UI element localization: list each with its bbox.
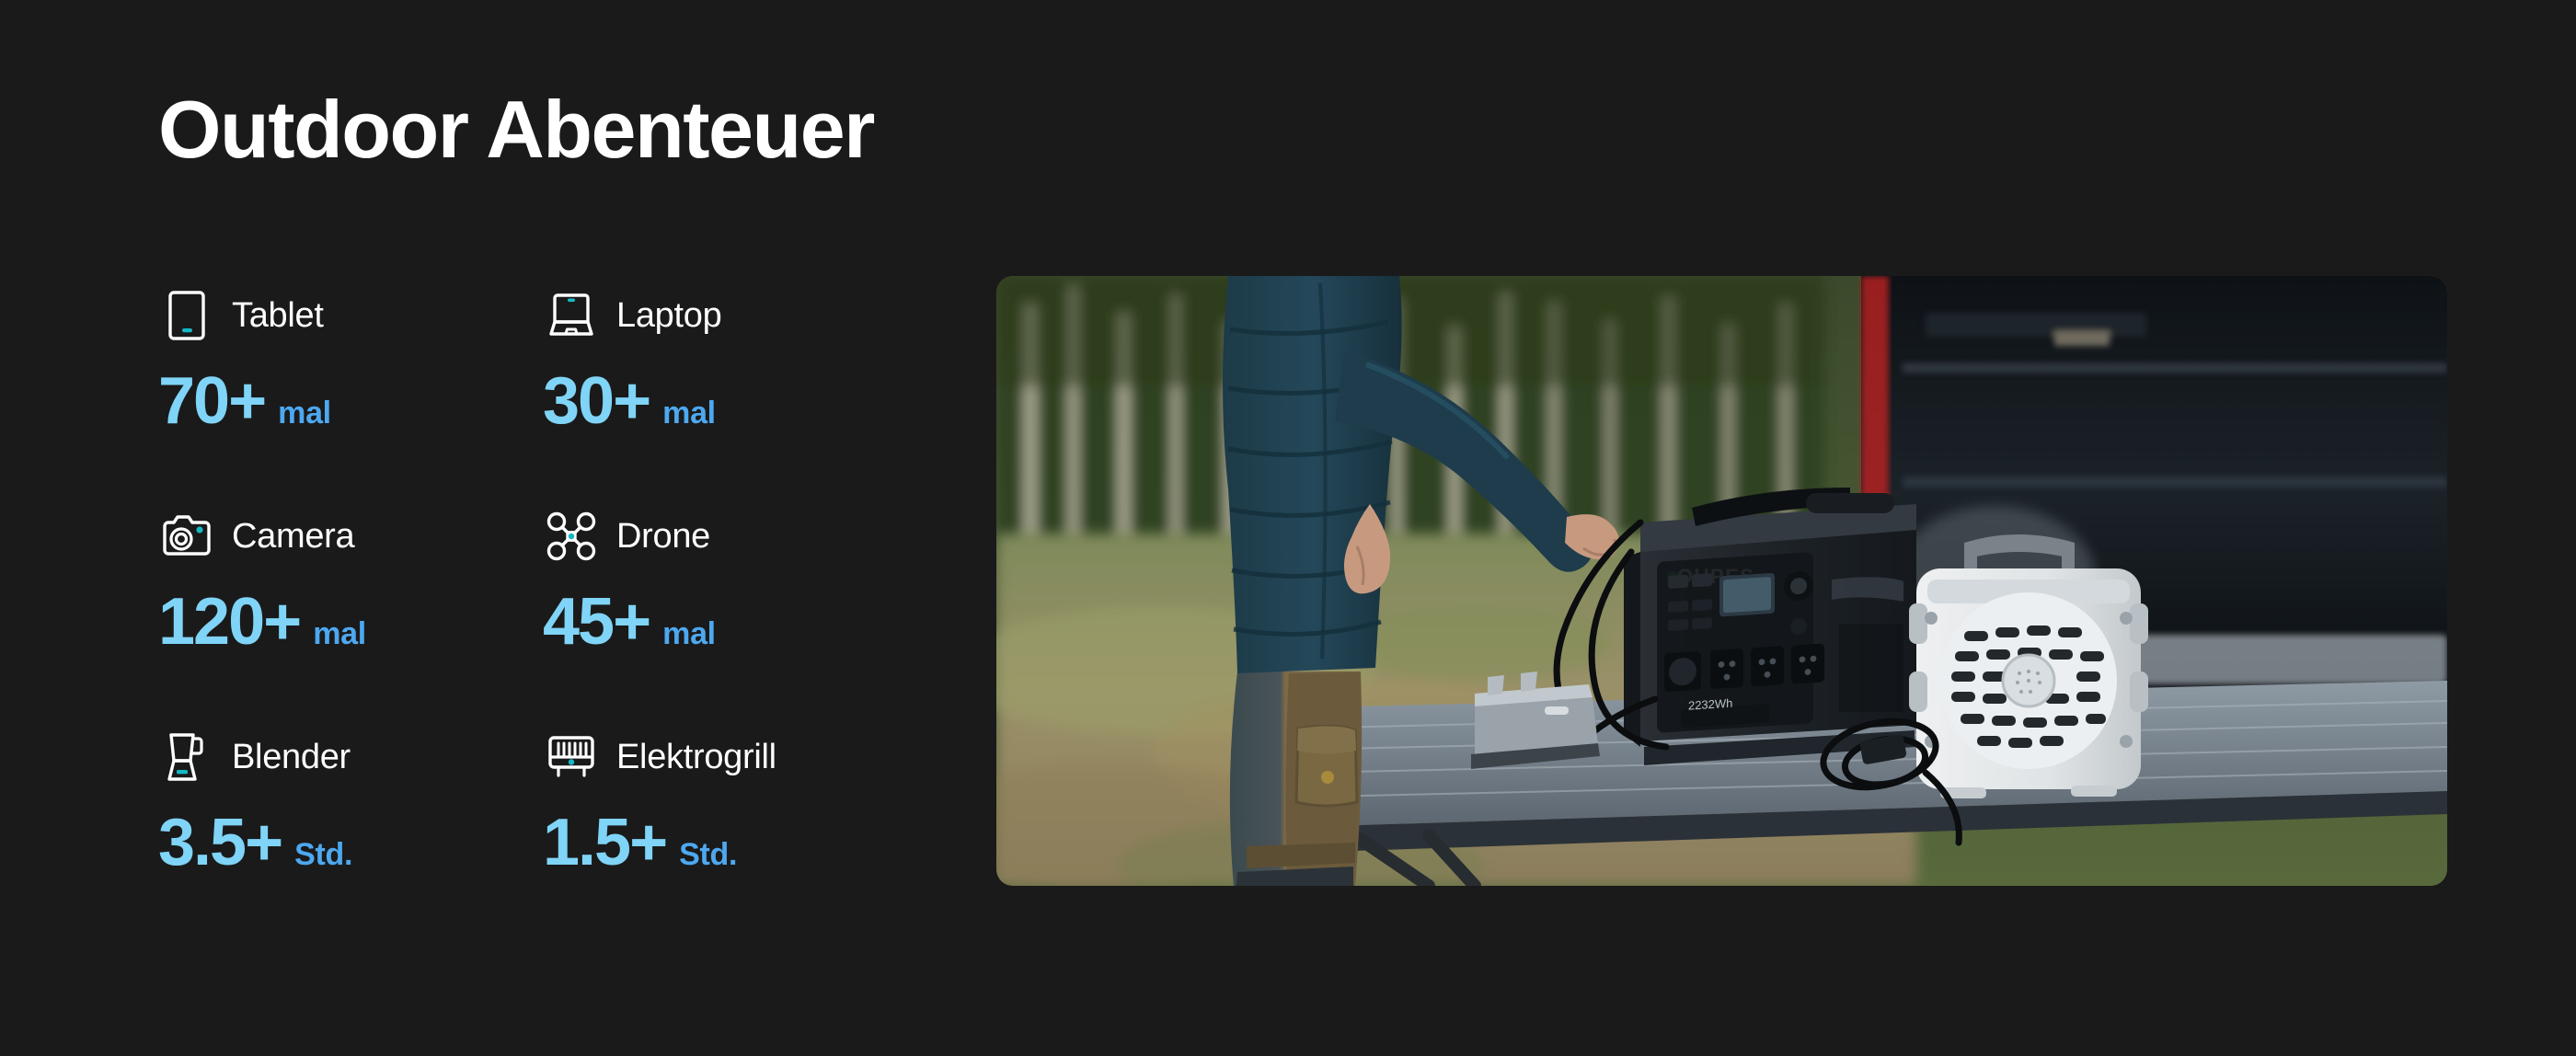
stat-number: 70+: [158, 368, 265, 434]
laptop-icon: [543, 287, 600, 344]
lifestyle-photo: OUPES: [996, 276, 2447, 886]
stat-header: Blender: [158, 717, 543, 797]
stat-number: 3.5+: [158, 809, 282, 876]
tablet-icon: [158, 287, 215, 344]
stat-unit: Std.: [294, 839, 352, 870]
stat-header: Tablet: [158, 276, 543, 355]
stat-value-row: 3.5+ Std.: [158, 809, 543, 876]
electric-grill-icon: [543, 729, 600, 786]
stat-header: Camera: [158, 497, 543, 576]
stat-label: Elektrogrill: [616, 738, 776, 777]
stat-item-camera: Camera 120+ mal: [158, 497, 543, 717]
stat-header: Drone: [543, 497, 922, 576]
stats-grid: Tablet 70+ mal Laptop: [158, 276, 922, 938]
stat-value-row: 120+ mal: [158, 589, 543, 655]
stat-unit: Std.: [679, 839, 737, 870]
stat-unit: mal: [662, 618, 716, 649]
stat-label: Laptop: [616, 296, 721, 336]
stat-unit: mal: [313, 618, 366, 649]
camera-icon: [158, 508, 215, 565]
stat-label: Tablet: [232, 296, 324, 336]
blender-icon: [158, 729, 215, 786]
promo-banner: Outdoor Abenteuer Tablet 70+ mal: [0, 0, 2576, 1056]
drone-icon: [543, 508, 600, 565]
photo-canvas: OUPES: [996, 276, 2447, 886]
stat-item-electric-grill: Elektrogrill 1.5+ Std.: [543, 717, 922, 938]
stat-number: 120+: [158, 589, 300, 655]
stat-item-blender: Blender 3.5+ Std.: [158, 717, 543, 938]
page-title: Outdoor Abenteuer: [158, 87, 874, 172]
stat-value-row: 70+ mal: [158, 368, 543, 434]
stat-item-tablet: Tablet 70+ mal: [158, 276, 543, 497]
stat-value-row: 45+ mal: [543, 589, 922, 655]
stat-value-row: 30+ mal: [543, 368, 922, 434]
stat-number: 45+: [543, 589, 650, 655]
stat-item-laptop: Laptop 30+ mal: [543, 276, 922, 497]
stat-label: Drone: [616, 517, 710, 557]
stat-header: Laptop: [543, 276, 922, 355]
stat-item-drone: Drone 45+ mal: [543, 497, 922, 717]
stat-unit: mal: [278, 397, 331, 429]
stat-number: 30+: [543, 368, 650, 434]
stat-unit: mal: [662, 397, 716, 429]
stat-value-row: 1.5+ Std.: [543, 809, 922, 876]
stat-number: 1.5+: [543, 809, 666, 876]
stat-label: Camera: [232, 517, 354, 557]
stat-header: Elektrogrill: [543, 717, 922, 797]
stat-label: Blender: [232, 738, 351, 777]
capacity-text: 2232Wh: [1688, 696, 1732, 713]
